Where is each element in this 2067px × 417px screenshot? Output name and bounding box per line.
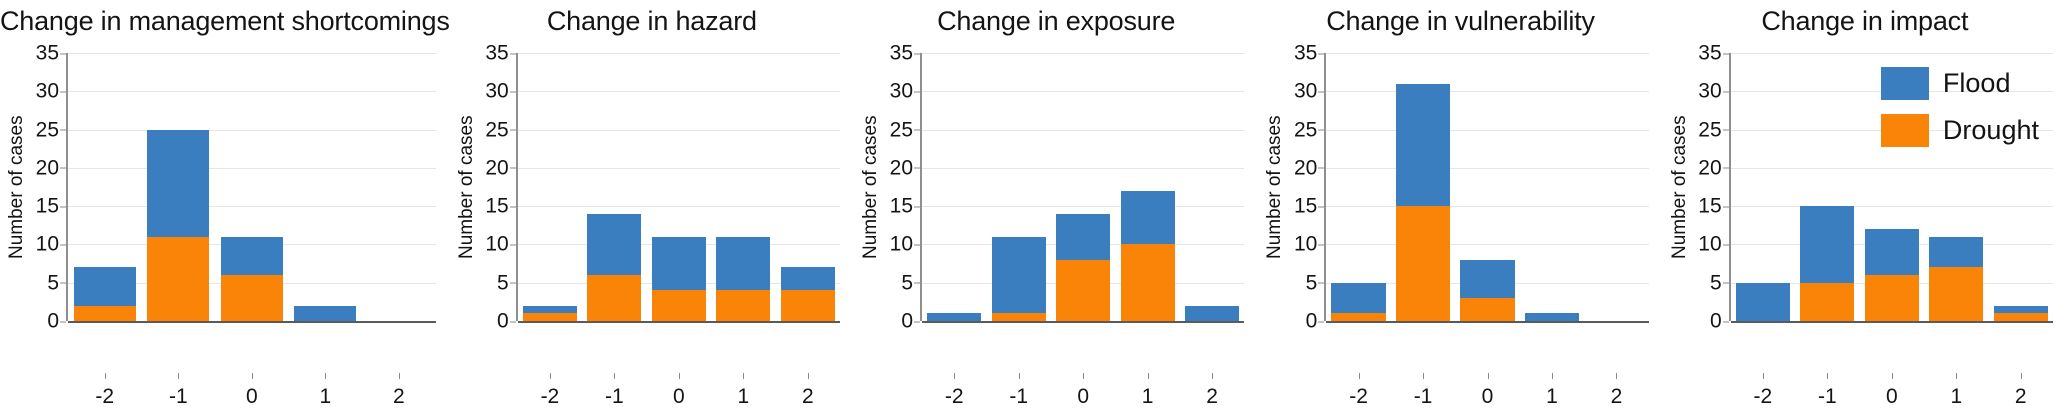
y-tick-label: 0 xyxy=(497,311,509,332)
x-tick-label: -1 xyxy=(1391,373,1455,417)
bar-segment-flood[interactable] xyxy=(221,237,283,275)
stacked-bar[interactable] xyxy=(1056,214,1110,321)
bar-slot xyxy=(518,53,582,321)
bar-segment-drought[interactable] xyxy=(147,237,209,321)
x-tick-mark xyxy=(1552,373,1553,379)
bar-group xyxy=(1326,53,1648,321)
x-tick-label: -1 xyxy=(1795,373,1859,417)
bar-segment-flood[interactable] xyxy=(147,130,209,237)
axis-area xyxy=(66,53,436,321)
x-tick-mark xyxy=(1212,373,1213,379)
y-tick-label: 30 xyxy=(36,81,59,102)
y-axis-ticks: 05101520253035 xyxy=(1286,53,1324,321)
panel-title: Change in impact xyxy=(1663,0,2067,45)
bar-segment-flood[interactable] xyxy=(1865,229,1919,275)
y-tick-mark xyxy=(1723,321,1729,322)
y-tick-label: 25 xyxy=(36,119,59,140)
stacked-bar[interactable] xyxy=(523,306,577,321)
bar-segment-drought[interactable] xyxy=(221,275,283,321)
bar-segment-drought[interactable] xyxy=(781,290,835,321)
bar-segment-flood[interactable] xyxy=(781,267,835,290)
bar-segment-drought[interactable] xyxy=(523,313,577,321)
y-axis-ticks: 05101520253035 xyxy=(478,53,516,321)
x-axis-spacer xyxy=(1669,373,1731,417)
x-tick-mark xyxy=(1019,373,1020,379)
bar-slot xyxy=(582,53,646,321)
x-tick-label: 0 xyxy=(1051,373,1115,417)
y-tick-label: 35 xyxy=(1294,43,1317,64)
stacked-bar[interactable] xyxy=(1800,206,1854,321)
x-axis-line xyxy=(922,321,1244,323)
bar-slot xyxy=(289,53,363,321)
x-tick-label: -2 xyxy=(1731,373,1795,417)
bar-group xyxy=(68,53,436,321)
bar-segment-drought[interactable] xyxy=(1056,260,1110,321)
x-axis-ticks: -2-1012 xyxy=(0,373,450,417)
flood-swatch xyxy=(1881,67,1929,100)
x-tick-label: -2 xyxy=(922,373,986,417)
y-tick-mark xyxy=(510,321,516,322)
stacked-bar[interactable] xyxy=(1525,313,1579,321)
y-tick-label: 0 xyxy=(1306,311,1318,332)
bar-segment-flood[interactable] xyxy=(74,267,136,305)
stacked-bar[interactable] xyxy=(1331,283,1385,321)
stacked-bar[interactable] xyxy=(1121,191,1175,321)
x-axis-ticks: -2-1012 xyxy=(854,373,1258,417)
bar-segment-flood[interactable] xyxy=(927,313,981,321)
y-axis-ticks: 05101520253035 xyxy=(28,53,66,321)
axis-area xyxy=(920,53,1244,321)
x-tick-label: -2 xyxy=(518,373,582,417)
y-tick-label: 30 xyxy=(890,81,913,102)
y-tick-label: 0 xyxy=(1710,311,1722,332)
chart-panel-5: Change in impactNumber of cases051015202… xyxy=(1663,0,2067,417)
x-tick-mark xyxy=(2021,373,2022,379)
stacked-bar[interactable] xyxy=(927,313,981,321)
bar-slot xyxy=(1051,53,1115,321)
bar-slot xyxy=(1455,53,1519,321)
legend-item[interactable]: Flood xyxy=(1881,67,2039,100)
stacked-bar[interactable] xyxy=(1865,229,1919,321)
y-tick-label: 20 xyxy=(36,157,59,178)
bar-segment-flood[interactable] xyxy=(523,306,577,314)
bar-segment-drought[interactable] xyxy=(1994,313,2048,321)
x-tick-label: 0 xyxy=(1455,373,1519,417)
x-tick-mark xyxy=(1148,373,1149,379)
y-tick-label: 0 xyxy=(47,311,59,332)
x-tick-labels: -2-1012 xyxy=(518,373,840,417)
y-tick-mark xyxy=(60,321,66,322)
bar-segment-drought[interactable] xyxy=(1800,283,1854,321)
axis-area: FloodDrought xyxy=(1729,53,2053,321)
y-axis-label: Number of cases xyxy=(1264,53,1286,321)
y-tick-label: 30 xyxy=(1698,81,1721,102)
x-tick-label: 0 xyxy=(1860,373,1924,417)
panel-title: Change in exposure xyxy=(854,0,1258,45)
stacked-bar[interactable] xyxy=(1994,306,2048,321)
x-tick-mark xyxy=(1616,373,1617,379)
x-axis-ticks: -2-1012 xyxy=(1663,373,2067,417)
chart-panel-3: Change in exposureNumber of cases0510152… xyxy=(854,0,1258,417)
y-axis-ticks: 05101520253035 xyxy=(1691,53,1729,321)
y-tick-label: 25 xyxy=(485,119,508,140)
bar-segment-flood[interactable] xyxy=(1396,84,1450,207)
x-tick-labels: -2-1012 xyxy=(68,373,436,417)
y-tick-label: 35 xyxy=(890,43,913,64)
stacked-bar[interactable] xyxy=(652,237,706,321)
plot-wrap: Number of cases05101520253035FloodDrough… xyxy=(1663,45,2067,373)
x-tick-label: 1 xyxy=(711,373,775,417)
y-tick-label: 20 xyxy=(890,157,913,178)
x-tick-mark xyxy=(1359,373,1360,379)
plot-wrap: Number of cases05101520253035 xyxy=(0,45,450,373)
y-tick-label: 20 xyxy=(485,157,508,178)
y-tick-label: 15 xyxy=(1698,196,1721,217)
bar-segment-drought[interactable] xyxy=(1460,298,1514,321)
stacked-bar-chart-figure: Change in management shortcomingsNumber … xyxy=(0,0,2067,417)
bar-segment-drought[interactable] xyxy=(1121,244,1175,321)
panel-title: Change in vulnerability xyxy=(1258,0,1662,45)
bar-segment-drought[interactable] xyxy=(1929,267,1983,321)
x-tick-mark xyxy=(614,373,615,379)
x-tick-label: -1 xyxy=(142,373,216,417)
y-tick-label: 10 xyxy=(890,234,913,255)
x-tick-mark xyxy=(1083,373,1084,379)
x-tick-mark xyxy=(105,373,106,379)
x-tick-mark xyxy=(1827,373,1828,379)
stacked-bar[interactable] xyxy=(1736,283,1790,321)
x-tick-mark xyxy=(399,373,400,379)
x-tick-label: 1 xyxy=(1924,373,1988,417)
x-axis-line xyxy=(1731,321,2053,323)
x-tick-mark xyxy=(1488,373,1489,379)
bar-segment-drought[interactable] xyxy=(1331,313,1385,321)
bar-segment-flood[interactable] xyxy=(587,214,641,275)
panel-title: Change in hazard xyxy=(450,0,854,45)
x-tick-labels: -2-1012 xyxy=(922,373,1244,417)
x-axis-line xyxy=(518,321,840,323)
stacked-bar[interactable] xyxy=(587,214,641,321)
y-tick-label: 20 xyxy=(1294,157,1317,178)
y-axis-label: Number of cases xyxy=(456,53,478,321)
bar-segment-drought[interactable] xyxy=(1865,275,1919,321)
bar-group xyxy=(922,53,1244,321)
y-tick-label: 30 xyxy=(485,81,508,102)
bar-segment-flood[interactable] xyxy=(294,306,356,321)
chart-panel-4: Change in vulnerabilityNumber of cases05… xyxy=(1258,0,1662,417)
bar-segment-flood[interactable] xyxy=(1121,191,1175,245)
bar-segment-drought[interactable] xyxy=(587,275,641,321)
axis-area xyxy=(516,53,840,321)
x-tick-mark xyxy=(1956,373,1957,379)
y-tick-label: 0 xyxy=(901,311,913,332)
stacked-bar[interactable] xyxy=(781,267,835,321)
y-tick-label: 20 xyxy=(1698,157,1721,178)
bar-segment-flood[interactable] xyxy=(1185,306,1239,321)
legend-item[interactable]: Drought xyxy=(1881,114,2039,147)
stacked-bar[interactable] xyxy=(1929,237,1983,321)
x-tick-label: 2 xyxy=(1180,373,1244,417)
bar-segment-flood[interactable] xyxy=(1525,313,1579,321)
y-tick-label: 10 xyxy=(36,234,59,255)
plot-wrap: Number of cases05101520253035 xyxy=(1258,45,1662,373)
x-tick-label: -1 xyxy=(986,373,1050,417)
x-tick-label: 1 xyxy=(289,373,363,417)
y-tick-label: 10 xyxy=(1698,234,1721,255)
y-tick-label: 30 xyxy=(1294,81,1317,102)
bar-slot xyxy=(1731,53,1795,321)
stacked-bar[interactable] xyxy=(221,237,283,321)
bar-segment-drought[interactable] xyxy=(74,306,136,321)
axis-area xyxy=(1324,53,1648,321)
y-tick-label: 5 xyxy=(1306,272,1318,293)
bar-group xyxy=(518,53,840,321)
x-tick-labels: -2-1012 xyxy=(1326,373,1648,417)
y-tick-label: 10 xyxy=(1294,234,1317,255)
bar-segment-drought[interactable] xyxy=(716,290,770,321)
plot-wrap: Number of cases05101520253035 xyxy=(450,45,854,373)
x-tick-mark xyxy=(178,373,179,379)
bar-slot xyxy=(215,53,289,321)
x-axis-ticks: -2-1012 xyxy=(1258,373,1662,417)
bar-slot xyxy=(1795,53,1859,321)
y-tick-label: 5 xyxy=(47,272,59,293)
bar-slot xyxy=(1584,53,1648,321)
y-tick-label: 15 xyxy=(1294,196,1317,217)
y-tick-label: 25 xyxy=(1294,119,1317,140)
x-tick-label: -2 xyxy=(68,373,142,417)
x-tick-mark xyxy=(1423,373,1424,379)
x-tick-label: 1 xyxy=(1520,373,1584,417)
bar-slot xyxy=(362,53,436,321)
y-axis-label: Number of cases xyxy=(6,53,28,321)
y-tick-label: 10 xyxy=(485,234,508,255)
y-axis-label: Number of cases xyxy=(860,53,882,321)
stacked-bar[interactable] xyxy=(74,267,136,321)
x-tick-label: 2 xyxy=(1584,373,1648,417)
x-axis-spacer xyxy=(456,373,518,417)
bar-slot xyxy=(68,53,142,321)
y-axis-label: Number of cases xyxy=(1669,53,1691,321)
stacked-bar[interactable] xyxy=(294,306,356,321)
x-axis-line xyxy=(68,321,436,323)
x-tick-label: 2 xyxy=(776,373,840,417)
stacked-bar[interactable] xyxy=(1185,306,1239,321)
bar-slot xyxy=(1115,53,1179,321)
y-tick-label: 5 xyxy=(497,272,509,293)
bar-segment-flood[interactable] xyxy=(1460,260,1514,298)
y-tick-label: 25 xyxy=(890,119,913,140)
y-tick-label: 35 xyxy=(485,43,508,64)
y-tick-label: 35 xyxy=(36,43,59,64)
stacked-bar[interactable] xyxy=(1460,260,1514,321)
bar-slot xyxy=(922,53,986,321)
bar-segment-flood[interactable] xyxy=(1736,283,1790,321)
x-axis-spacer xyxy=(1264,373,1326,417)
x-tick-label: 1 xyxy=(1115,373,1179,417)
bar-slot xyxy=(647,53,711,321)
y-axis-ticks: 05101520253035 xyxy=(882,53,920,321)
bar-slot xyxy=(1180,53,1244,321)
bar-segment-flood[interactable] xyxy=(1994,306,2048,314)
panel-title: Change in management shortcomings xyxy=(0,0,450,45)
y-tick-mark xyxy=(914,321,920,322)
y-tick-label: 35 xyxy=(1698,43,1721,64)
bar-segment-flood[interactable] xyxy=(992,237,1046,314)
y-tick-label: 15 xyxy=(890,196,913,217)
y-tick-label: 5 xyxy=(1710,272,1722,293)
x-tick-label: 0 xyxy=(215,373,289,417)
bar-segment-flood[interactable] xyxy=(1929,237,1983,268)
stacked-bar[interactable] xyxy=(992,237,1046,321)
bar-segment-drought[interactable] xyxy=(992,313,1046,321)
y-tick-mark xyxy=(1318,321,1324,322)
x-tick-mark xyxy=(1763,373,1764,379)
bar-segment-flood[interactable] xyxy=(1056,214,1110,260)
bar-slot xyxy=(1520,53,1584,321)
chart-panel-2: Change in hazardNumber of cases051015202… xyxy=(450,0,854,417)
x-tick-mark xyxy=(808,373,809,379)
x-tick-label: 0 xyxy=(647,373,711,417)
x-axis-line xyxy=(1326,321,1648,323)
bar-slot xyxy=(1326,53,1390,321)
bar-segment-flood[interactable] xyxy=(1331,283,1385,314)
stacked-bar[interactable] xyxy=(147,130,209,321)
x-axis-spacer xyxy=(860,373,922,417)
bar-slot xyxy=(711,53,775,321)
stacked-bar[interactable] xyxy=(716,237,770,321)
x-tick-label: 2 xyxy=(362,373,436,417)
x-tick-mark xyxy=(252,373,253,379)
legend: FloodDrought xyxy=(1881,67,2039,147)
bar-segment-drought[interactable] xyxy=(652,290,706,321)
chart-panel-1: Change in management shortcomingsNumber … xyxy=(0,0,450,417)
legend-label: Flood xyxy=(1943,70,2011,97)
y-tick-label: 15 xyxy=(485,196,508,217)
bar-slot xyxy=(986,53,1050,321)
x-tick-mark xyxy=(743,373,744,379)
plot-wrap: Number of cases05101520253035 xyxy=(854,45,1258,373)
bar-segment-flood[interactable] xyxy=(652,237,706,291)
x-tick-mark xyxy=(679,373,680,379)
x-tick-mark xyxy=(1892,373,1893,379)
x-tick-mark xyxy=(954,373,955,379)
x-tick-labels: -2-1012 xyxy=(1731,373,2053,417)
y-tick-label: 25 xyxy=(1698,119,1721,140)
bar-segment-flood[interactable] xyxy=(1800,206,1854,283)
bar-slot xyxy=(1391,53,1455,321)
x-tick-label: -1 xyxy=(582,373,646,417)
x-tick-label: 2 xyxy=(1989,373,2053,417)
y-tick-label: 5 xyxy=(901,272,913,293)
bar-slot xyxy=(142,53,216,321)
bar-segment-flood[interactable] xyxy=(716,237,770,291)
bar-slot xyxy=(776,53,840,321)
drought-swatch xyxy=(1881,114,1929,147)
stacked-bar[interactable] xyxy=(1396,84,1450,321)
x-tick-mark xyxy=(325,373,326,379)
y-tick-label: 15 xyxy=(36,196,59,217)
x-axis-spacer xyxy=(6,373,68,417)
bar-segment-drought[interactable] xyxy=(1396,206,1450,321)
x-axis-ticks: -2-1012 xyxy=(450,373,854,417)
x-tick-mark xyxy=(550,373,551,379)
legend-label: Drought xyxy=(1943,117,2039,144)
x-tick-label: -2 xyxy=(1326,373,1390,417)
